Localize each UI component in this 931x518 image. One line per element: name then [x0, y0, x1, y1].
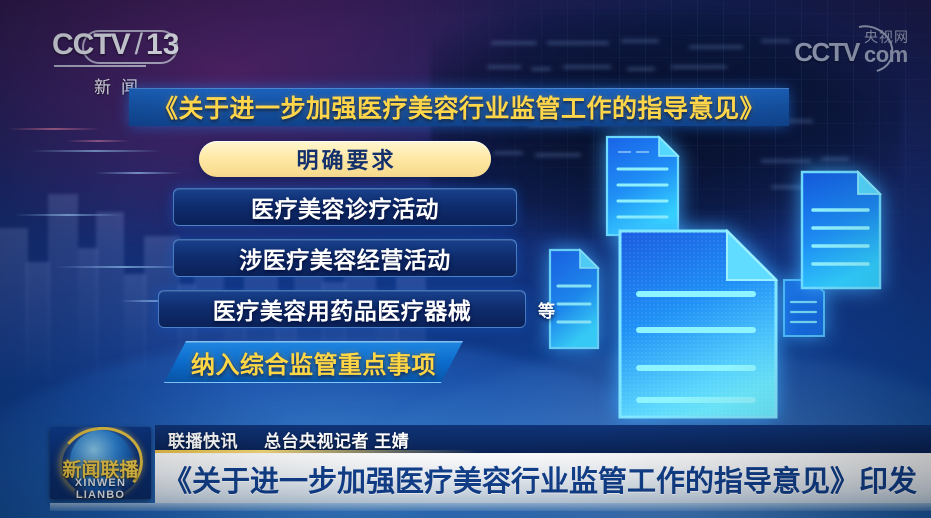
cctv-channel-number: 13 — [146, 30, 179, 60]
document-icon-top-left — [605, 135, 680, 237]
title-banner-text: 《关于进一步加强医疗美容行业监管工作的指导意见》 — [153, 89, 765, 125]
kicker-tag: 联播快讯 — [168, 427, 238, 452]
title-banner: 《关于进一步加强医疗美容行业监管工作的指导意见》 — [129, 88, 789, 126]
list-item-suffix: 等 — [538, 297, 555, 322]
document-icon-center-large — [617, 228, 779, 420]
requirement-badge: 明确要求 — [199, 141, 491, 177]
cctv-com-watermark: CCTV 央视网 com — [794, 30, 909, 65]
list-item-bar: 涉医疗美容经营活动 — [173, 239, 517, 277]
cctv-wordmark: CCTV — [52, 30, 130, 60]
list-item: 医疗美容诊疗活动 — [173, 188, 517, 226]
list-item-label: 医疗美容用药品医疗器械 — [213, 292, 472, 326]
light-streak — [14, 214, 122, 216]
program-logo: 新闻联播 XINWEN LIANBO — [50, 427, 151, 499]
program-logo-en: XINWEN LIANBO — [50, 477, 151, 499]
light-streak — [66, 140, 130, 142]
list-item: 纳入综合监管重点事项 — [164, 341, 463, 383]
light-streak — [95, 172, 181, 174]
kicker-bar: 联播快讯 总台央视记者 王婧 — [155, 425, 931, 453]
list-item-bar-highlight: 纳入综合监管重点事项 — [164, 341, 463, 383]
reporter-credit: 总台央视记者 王婧 — [264, 427, 409, 452]
list-item-bar: 医疗美容用药品医疗器械 — [158, 290, 526, 328]
broadcast-screenshot: CCTV / 13 新闻 CCTV 央视网 com 《关于进一步加强医疗美容行业… — [0, 0, 931, 518]
cctv-slash: / — [135, 30, 143, 60]
document-icon-left-edge — [548, 248, 600, 350]
list-item-label: 医疗美容诊疗活动 — [251, 190, 439, 224]
headline-text: 《关于进一步加强医疗美容行业监管工作的指导意见》印发 — [163, 458, 917, 500]
list-item-label: 涉医疗美容经营活动 — [239, 241, 451, 275]
list-item: 涉医疗美容经营活动 — [173, 239, 517, 277]
requirement-badge-label: 明确要求 — [293, 143, 396, 175]
light-streak — [8, 128, 100, 130]
list-item-bar: 医疗美容诊疗活动 — [173, 188, 517, 226]
lower-third-footer — [50, 503, 931, 511]
list-item: 医疗美容用药品医疗器械 等 — [158, 290, 555, 328]
light-streak — [30, 150, 160, 152]
headline-bar: 《关于进一步加强医疗美容行业监管工作的指导意见》印发 — [155, 453, 931, 503]
cctv-logo-underline — [54, 65, 146, 67]
document-icon-right — [800, 170, 882, 290]
list-item-label: 纳入综合监管重点事项 — [191, 345, 436, 380]
